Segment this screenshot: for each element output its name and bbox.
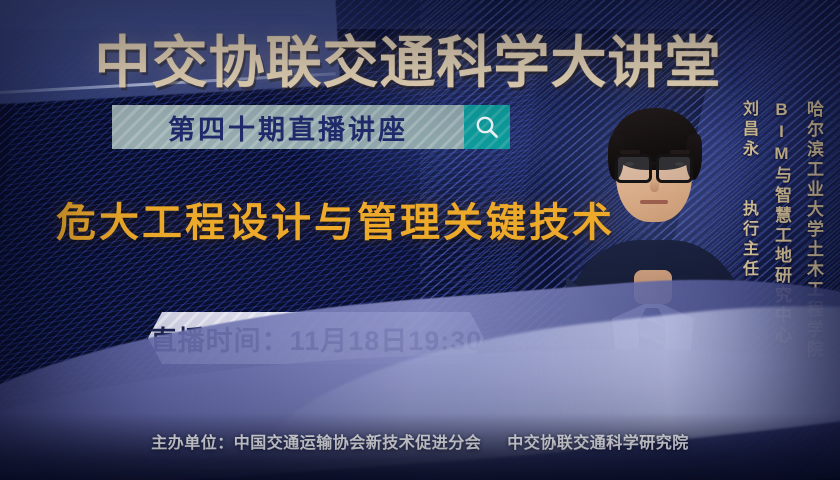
portrait-glasses [612,154,696,178]
episode-band: 第四十期直播讲座 [112,105,464,149]
portrait-lens-left [615,154,652,183]
portrait-lens-right [656,154,693,183]
portrait-nose [650,178,659,192]
lecture-headline: 危大工程设计与管理关键技术 [56,190,615,248]
search-icon [474,114,500,140]
footer-organizer-label: 主办单位： [151,435,234,452]
page-title: 中交协联交通科学大讲堂 [0,18,828,99]
search-button[interactable] [464,105,510,149]
portrait-mouth [640,200,668,204]
footer-organizers: 主办单位：中国交通运输协会新技术促进分会中交协联交通科学研究院 [0,429,840,453]
speaker-name: 刘昌永 [736,100,760,160]
episode-label: 第四十期直播讲座 [168,108,408,147]
footer-organizer-secondary: 中交协联交通科学研究院 [507,435,689,452]
speaker-role: 执行主任 [736,200,760,280]
webinar-poster: 中交协联交通科学大讲堂 第四十期直播讲座 危大工程设计与管理关键技术 直播时间：… [0,0,840,480]
footer-organizer-primary: 中国交通运输协会新技术促进分会 [234,435,482,452]
